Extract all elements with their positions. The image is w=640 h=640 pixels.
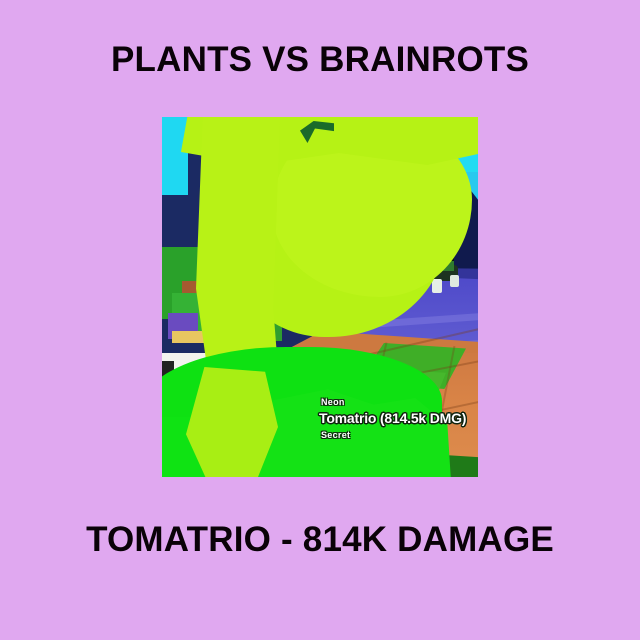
poster-container: PLANTS VS BRAINROTS <box>0 0 640 640</box>
mob-leg-3 <box>450 275 459 287</box>
sky-left <box>162 117 188 195</box>
mob-leg-2 <box>432 279 442 293</box>
page-caption: TOMATRIO - 814K DAMAGE <box>0 522 640 557</box>
page-title: PLANTS VS BRAINROTS <box>111 42 529 77</box>
game-screenshot: Neon Tomatrio (814.5k DMG) Secret <box>162 117 478 477</box>
